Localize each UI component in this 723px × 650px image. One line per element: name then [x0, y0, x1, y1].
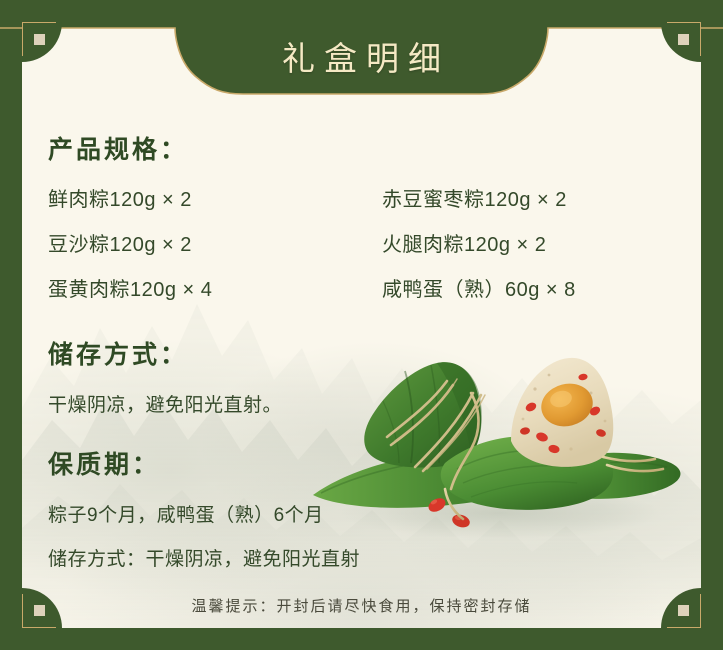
corner-rule-vertical — [700, 594, 701, 628]
corner-ornament-bottom-left — [22, 588, 62, 628]
spec-item-left-3: 蛋黄肉粽120g × 4 — [48, 273, 212, 302]
corner-square-dot — [34, 605, 45, 616]
zongzi-illustration — [295, 345, 690, 545]
corner-rule-vertical — [22, 22, 23, 56]
corner-rule-vertical — [700, 22, 701, 56]
spec-item-right-1: 赤豆蜜枣粽120g × 2 — [382, 183, 567, 212]
section-heading-shelf-life: 保质期： — [48, 445, 160, 481]
corner-square-dot — [34, 34, 45, 45]
spec-item-left-2: 豆沙粽120g × 2 — [48, 228, 192, 257]
corner-rule-horizontal — [22, 22, 56, 23]
corner-rule-horizontal — [22, 627, 56, 628]
spec-item-right-2: 火腿肉粽120g × 2 — [382, 228, 546, 257]
header-banner: 礼盒明细 — [0, 0, 723, 100]
corner-rule-horizontal — [667, 22, 701, 23]
section-heading-storage: 储存方式： — [48, 335, 188, 371]
corner-square-dot — [678, 605, 689, 616]
corner-square-dot — [678, 34, 689, 45]
section-heading-spec: 产品规格： — [48, 130, 188, 166]
shelf-life-line-2: 储存方式：干燥阴凉，避免阳光直射 — [48, 544, 360, 571]
gift-box-detail-poster: 礼盒明细 — [0, 0, 723, 650]
shelf-life-line-1: 粽子9个月，咸鸭蛋（熟）6个月 — [48, 500, 324, 527]
corner-rule-horizontal — [667, 627, 701, 628]
corner-ornament-top-right — [661, 22, 701, 62]
corner-ornament-bottom-right — [661, 588, 701, 628]
spec-item-left-1: 鲜肉粽120g × 2 — [48, 183, 192, 212]
corner-rule-vertical — [22, 594, 23, 628]
footer-tip: 温馨提示：开封后请尽快食用，保持密封存储 — [0, 595, 723, 616]
corner-ornament-top-left — [22, 22, 62, 62]
content-area: 产品规格： 鲜肉粽120g × 2 豆沙粽120g × 2 蛋黄肉粽120g ×… — [0, 100, 723, 650]
spec-item-right-3: 咸鸭蛋（熟）60g × 8 — [382, 273, 576, 302]
storage-line-1: 干燥阴凉，避免阳光直射。 — [48, 390, 282, 417]
page-title: 礼盒明细 — [0, 32, 723, 80]
